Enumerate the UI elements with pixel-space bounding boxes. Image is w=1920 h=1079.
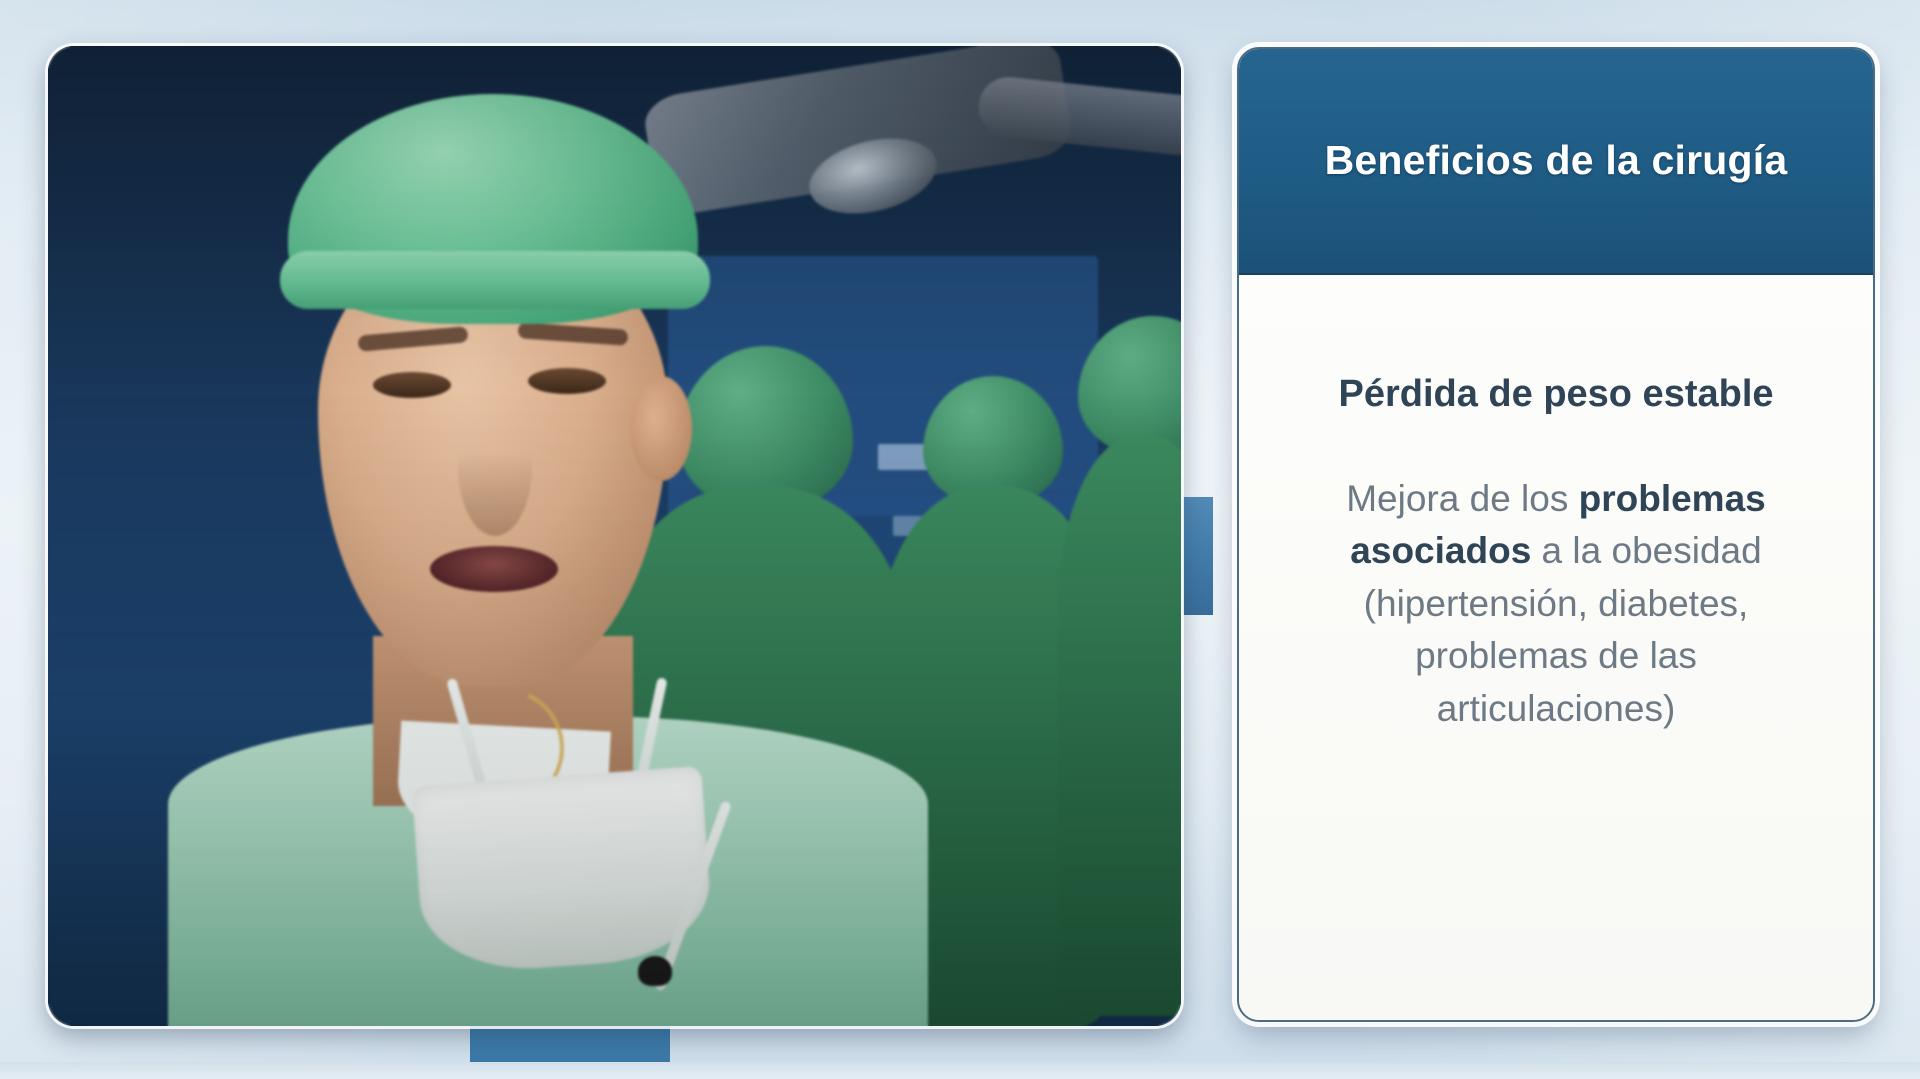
surgeon-nose — [458, 396, 532, 536]
slide-stage: Beneficios de la cirugía Pérdida de peso… — [0, 0, 1920, 1079]
surgeon-mouth — [430, 546, 558, 592]
paragraph-part-1: Mejora de los — [1346, 478, 1578, 519]
info-card-lead-text: Pérdida de peso estable — [1338, 371, 1773, 419]
surgeon-eye — [373, 372, 451, 398]
video-panel[interactable] — [48, 46, 1181, 1026]
paragraph-emphasis-1: problemas — [1579, 478, 1766, 519]
accent-strip-bottom — [0, 1062, 1920, 1079]
info-card-paragraph: Mejora de los problemas asociados a la o… — [1291, 473, 1821, 736]
background-staff-member — [1058, 316, 1181, 1016]
paragraph-emphasis-2: asociados — [1350, 530, 1531, 571]
video-scene — [48, 46, 1181, 1026]
surgeon-cap-band — [280, 251, 710, 309]
foreground-surgeon — [168, 76, 868, 1026]
info-card: Beneficios de la cirugía Pérdida de peso… — [1237, 47, 1875, 1022]
info-card-header: Beneficios de la cirugía — [1239, 49, 1873, 275]
lapel-microphone-icon — [638, 956, 672, 986]
scrubs-body — [1058, 436, 1181, 1016]
info-card-body: Pérdida de peso estable Mejora de los pr… — [1239, 275, 1873, 1020]
info-card-title: Beneficios de la cirugía — [1325, 137, 1788, 184]
surgeon-ear — [630, 376, 692, 481]
accent-bar-right — [1183, 497, 1213, 615]
surgical-cap-icon — [1078, 316, 1181, 456]
surgeon-eye — [528, 368, 606, 394]
